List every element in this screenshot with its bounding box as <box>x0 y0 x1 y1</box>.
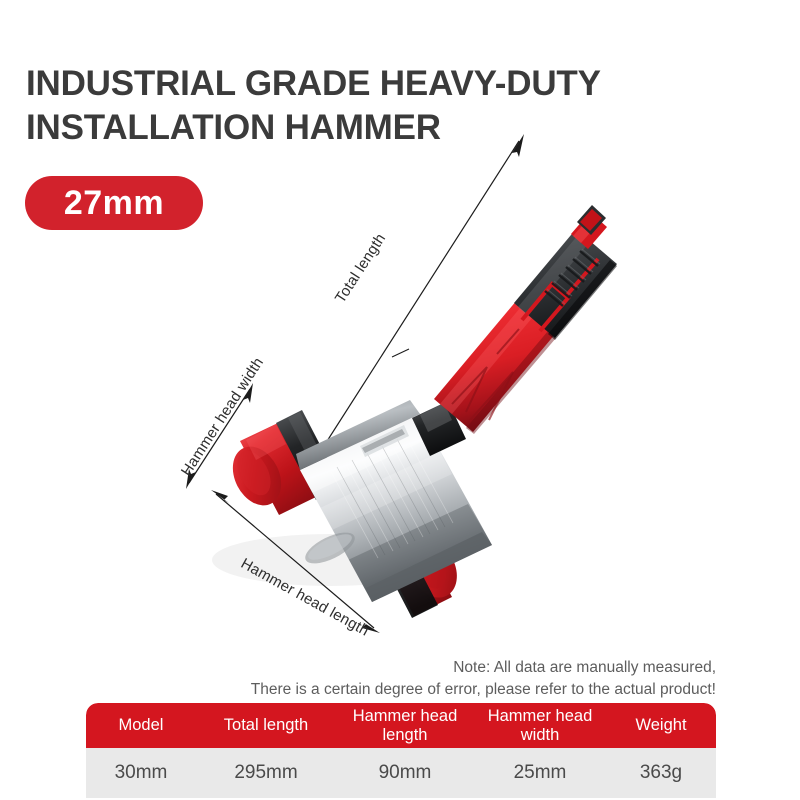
title-line-2: INSTALLATION HAMMER <box>26 106 726 150</box>
hammer-shaft <box>434 300 556 434</box>
spec-header-model: Model <box>86 703 196 748</box>
shaft-grooves <box>452 329 519 420</box>
hammer-grip <box>514 229 617 340</box>
hammer-graphic <box>212 205 617 618</box>
head-length-arrowhead-left <box>211 490 229 503</box>
hammer-butt-cap <box>571 205 607 249</box>
hanging-hole <box>577 205 606 235</box>
spec-table: Model Total length Hammer head length Ha… <box>86 703 716 798</box>
note-line-2: There is a certain degree of error, plea… <box>96 679 716 701</box>
spec-value-hammer-head-width: 25mm <box>474 748 606 798</box>
spec-header-hammer-head-length: Hammer head length <box>336 703 474 748</box>
spec-value-weight: 363g <box>606 748 716 798</box>
hammer-cap-upper <box>223 422 318 515</box>
dimension-label-hammer-head-width: Hammer head width <box>178 354 267 479</box>
spec-header-hammer-head-width: Hammer head width <box>474 703 606 748</box>
spec-table-row: 30mm 295mm 90mm 25mm 363g <box>86 748 716 798</box>
total-length-label-tick <box>392 349 409 357</box>
size-badge: 27mm <box>25 176 203 230</box>
spec-value-model: 30mm <box>86 748 196 798</box>
grip-ridges <box>545 251 598 306</box>
dimension-label-total-length: Total length <box>332 231 389 307</box>
note-line-1: Note: All data are manually measured, <box>96 657 716 679</box>
size-badge-label: 27mm <box>64 186 164 220</box>
title-line-1: INDUSTRIAL GRADE HEAVY-DUTY <box>26 62 726 106</box>
page-title: INDUSTRIAL GRADE HEAVY-DUTY INSTALLATION… <box>26 62 726 150</box>
hammer-neck-collar <box>412 401 466 456</box>
grip-red-chevron <box>522 284 568 331</box>
measurement-note: Note: All data are manually measured, Th… <box>96 657 716 701</box>
dimension-label-hammer-head-length: Hammer head length <box>238 555 372 640</box>
head-length-line <box>216 494 374 628</box>
spec-value-hammer-head-length: 90mm <box>336 748 474 798</box>
spec-header-total-length: Total length <box>196 703 336 748</box>
total-length-line <box>306 141 519 474</box>
spec-value-total-length: 295mm <box>196 748 336 798</box>
spec-table-header-row: Model Total length Hammer head length Ha… <box>86 703 716 748</box>
hammer-steel-body <box>296 400 492 602</box>
spec-header-weight: Weight <box>606 703 716 748</box>
hammer-cap-lower <box>374 520 466 616</box>
hammer-body-recess <box>301 526 359 569</box>
